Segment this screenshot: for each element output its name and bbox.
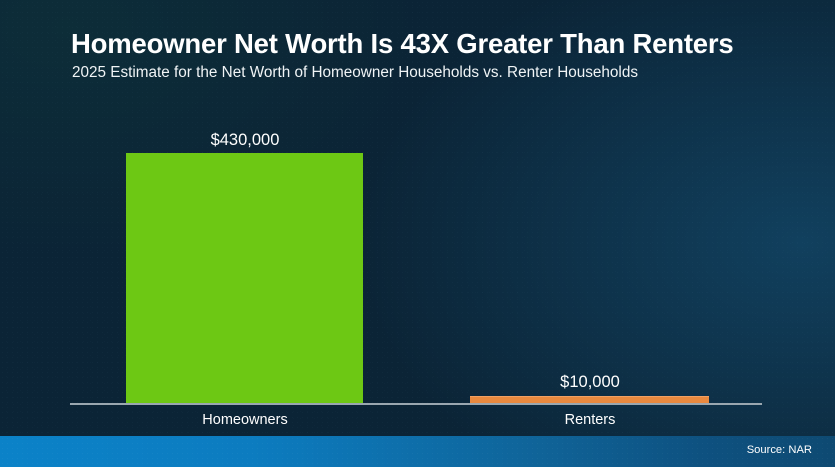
chart-slide: Homeowner Net Worth Is 43X Greater Than … [0,0,835,467]
bar-renters [470,396,709,403]
bar-chart-plot-area: $430,000 $10,000 Homeowners Renters [0,0,835,436]
bar-homeowners [126,153,363,403]
value-label-renters: $10,000 [490,373,690,392]
category-label-renters: Renters [490,412,690,428]
footer-texture [0,436,835,467]
source-attribution: Source: NAR [747,444,812,456]
category-label-homeowners: Homeowners [145,412,345,428]
value-label-homeowners: $430,000 [145,131,345,150]
footer-bar: Source: NAR [0,436,835,467]
x-axis-line [70,403,762,405]
